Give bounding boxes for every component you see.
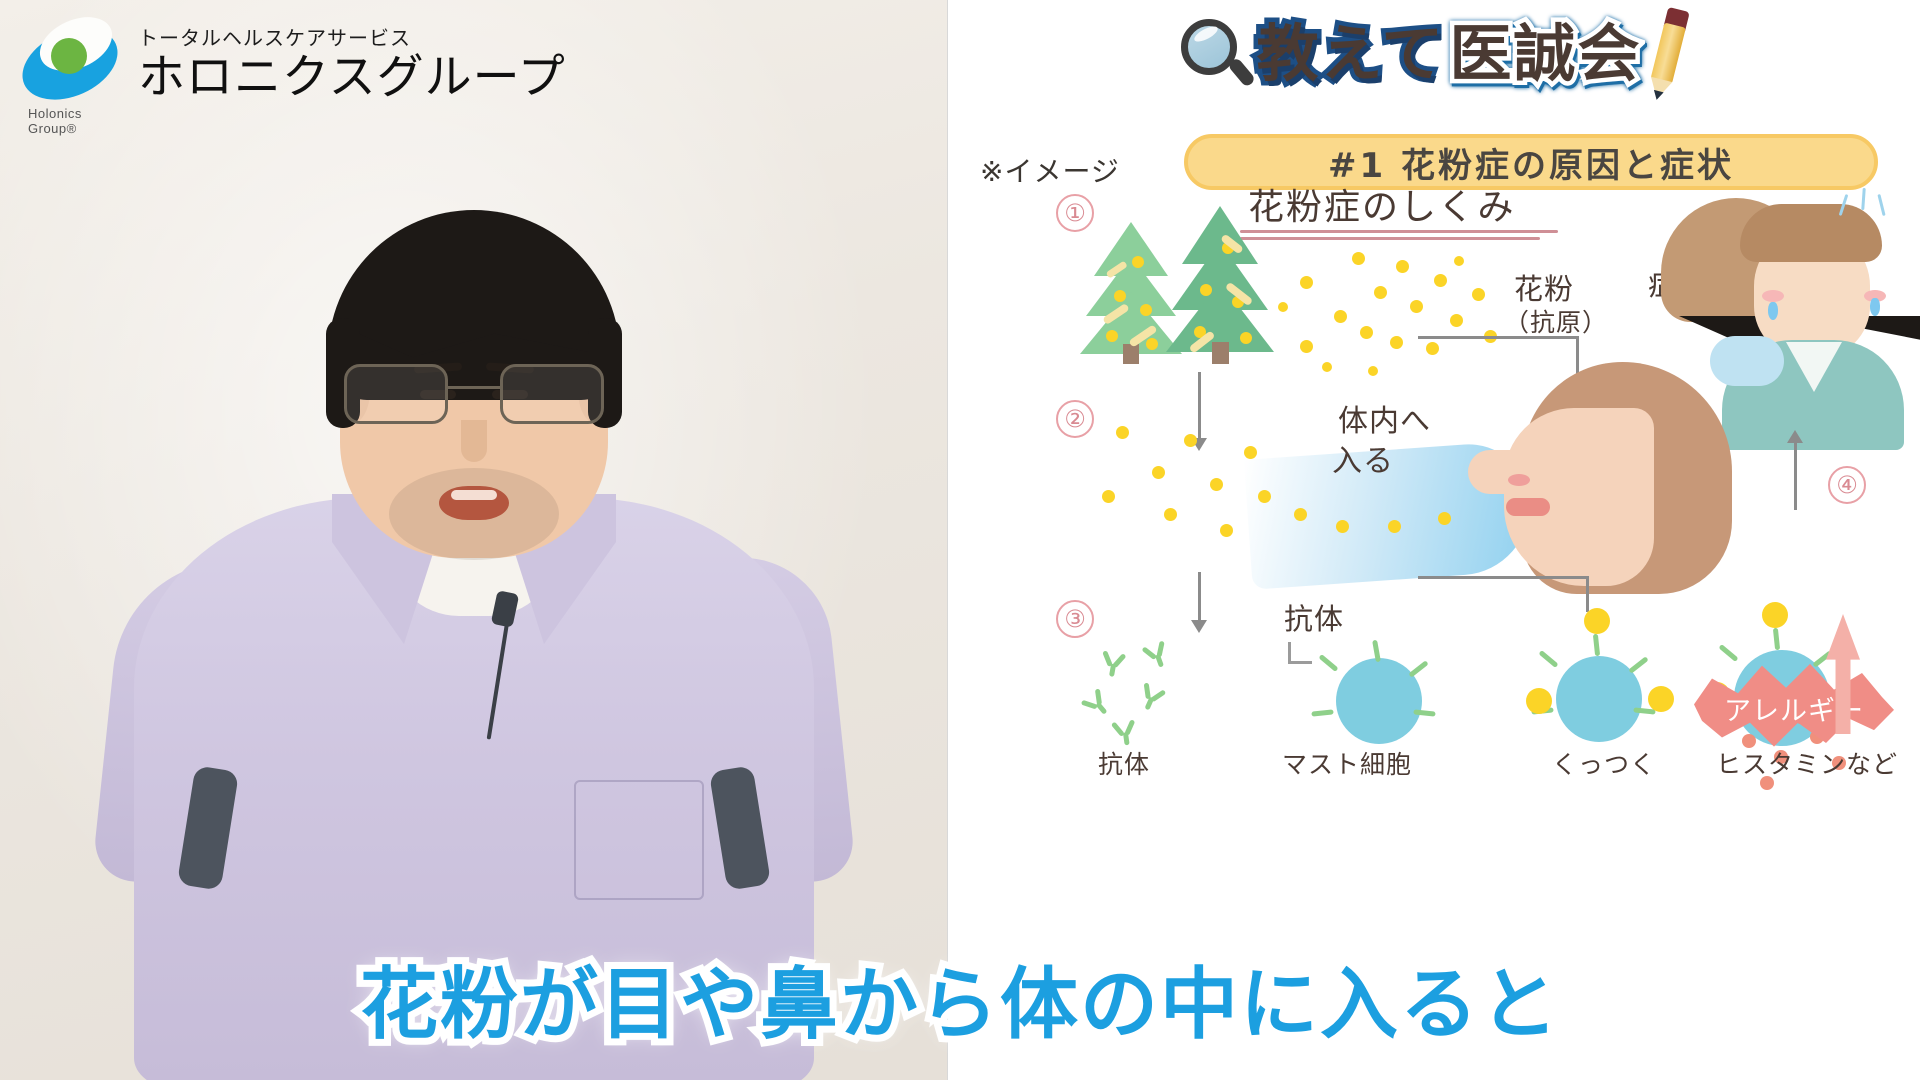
mast1-spike-3 — [1408, 660, 1428, 677]
allergy-to-symptom-line — [1794, 440, 1797, 510]
label-antibody-callout: 抗体 — [1284, 602, 1344, 636]
lens-left — [344, 364, 448, 424]
mast2-spike-3 — [1628, 656, 1648, 673]
label-antibody-bottom: 抗体 — [1098, 750, 1150, 780]
step2-to-3-arrowhead — [1191, 620, 1207, 633]
holonics-logo-icon: Holonics Group® — [18, 14, 122, 118]
tear-right — [1870, 298, 1880, 316]
mast2-spike-2 — [1593, 634, 1600, 656]
profile-face — [1504, 408, 1654, 586]
sneeze-line-2 — [1861, 188, 1866, 210]
pollen-connector-h — [1418, 336, 1578, 339]
magnifier-handle — [1227, 57, 1256, 88]
pollen-bound-4 — [1762, 602, 1788, 628]
show-title: 教えて 医誠会 — [948, 8, 1920, 100]
label-pollen-antigen: （抗原） — [1504, 308, 1608, 338]
mechanism-heading: 花粉症のしくみ — [1248, 178, 1515, 230]
brand-text: トータルヘルスケアサービス ホロニクスグループ — [138, 14, 566, 102]
step2-to-3-line — [1198, 572, 1201, 624]
mast2-spike-1 — [1538, 650, 1558, 668]
logo-caption: Holonics Group® — [28, 106, 122, 136]
brand-name: ホロニクスグループ — [138, 53, 566, 102]
heading-underline — [1240, 230, 1560, 240]
profile-nose — [1468, 450, 1524, 494]
mechanism-diagram: ※イメージ 花粉症のしくみ ① — [948, 190, 1920, 980]
nose — [461, 420, 487, 462]
histamine-1 — [1742, 734, 1756, 748]
mouth — [439, 486, 509, 520]
antibody-3 — [1079, 683, 1119, 722]
step-marker-2: ② — [1056, 400, 1094, 438]
step-marker-3: ③ — [1056, 600, 1094, 638]
brand-tagline: トータルヘルスケアサービス — [138, 22, 566, 51]
brand-lockup: Holonics Group® トータルヘルスケアサービス ホロニクスグループ — [18, 14, 566, 118]
antibody-1 — [1098, 650, 1132, 681]
screenshot-root: Holonics Group® トータルヘルスケアサービス ホロニクスグループ … — [0, 0, 1920, 1080]
mast1-spike-4 — [1311, 709, 1333, 716]
label-histamine: ヒスタミンなど — [1716, 750, 1898, 780]
pollen-bound-3 — [1648, 686, 1674, 712]
allergy-to-symptom-arrowhead — [1787, 430, 1803, 443]
label-mast-cell: マスト細胞 — [1282, 750, 1412, 780]
mast3-spike-2 — [1773, 628, 1780, 650]
tree-2-shape — [1162, 198, 1278, 364]
subtitle-caption: 花粉が目や鼻から体の中に入ると — [0, 942, 1920, 1054]
girl-bangs — [1740, 204, 1882, 262]
glasses-bridge — [448, 386, 500, 389]
title-part-1: 教えて — [1257, 23, 1446, 85]
label-enter-body-1: 体内へ — [1338, 404, 1431, 439]
step2-connector-v — [1586, 576, 1589, 612]
sneeze-line-3 — [1877, 194, 1885, 216]
mast-cell-1 — [1336, 658, 1422, 744]
lens-right — [500, 364, 604, 424]
presenter-video — [0, 0, 948, 1080]
tear-left — [1768, 302, 1778, 320]
pencil-body — [1651, 22, 1686, 84]
step1-to-2-line — [1198, 372, 1201, 440]
girl-cheek-left — [1762, 290, 1784, 302]
step2-connector-h — [1418, 576, 1588, 579]
mast1-spike-1 — [1318, 654, 1338, 672]
label-enter-body-2: 入る — [1332, 444, 1394, 479]
title-part-2: 医誠会 — [1449, 23, 1641, 85]
profile-nostril — [1508, 474, 1530, 486]
slide-panel: 教えて 医誠会 #1 花粉症の原因と症状 ※イメージ 花粉症のしくみ ① — [948, 0, 1920, 1080]
antibody-4 — [1134, 681, 1172, 717]
antibody-2 — [1140, 638, 1177, 673]
image-disclaimer: ※イメージ — [980, 150, 1120, 190]
mast3-spike-1 — [1718, 644, 1738, 662]
antibody-5 — [1110, 718, 1143, 748]
pollen-bound-1 — [1584, 608, 1610, 634]
profile-lip — [1506, 498, 1550, 516]
logo-green-dot — [51, 38, 87, 74]
magnifying-glass-icon — [1179, 17, 1253, 91]
cedar-tree-2 — [1162, 198, 1278, 369]
symptom-person-illustration — [1716, 198, 1916, 448]
head-profile-illustration — [1496, 362, 1746, 622]
antibody-callout-line — [1288, 642, 1312, 664]
pollen-bound-2 — [1526, 688, 1552, 714]
label-pollen: 花粉 — [1514, 272, 1574, 306]
chest-pocket — [574, 780, 704, 900]
pencil-icon — [1635, 4, 1700, 104]
label-stick: くっつく — [1552, 750, 1656, 780]
step-marker-4: ④ — [1828, 466, 1866, 504]
